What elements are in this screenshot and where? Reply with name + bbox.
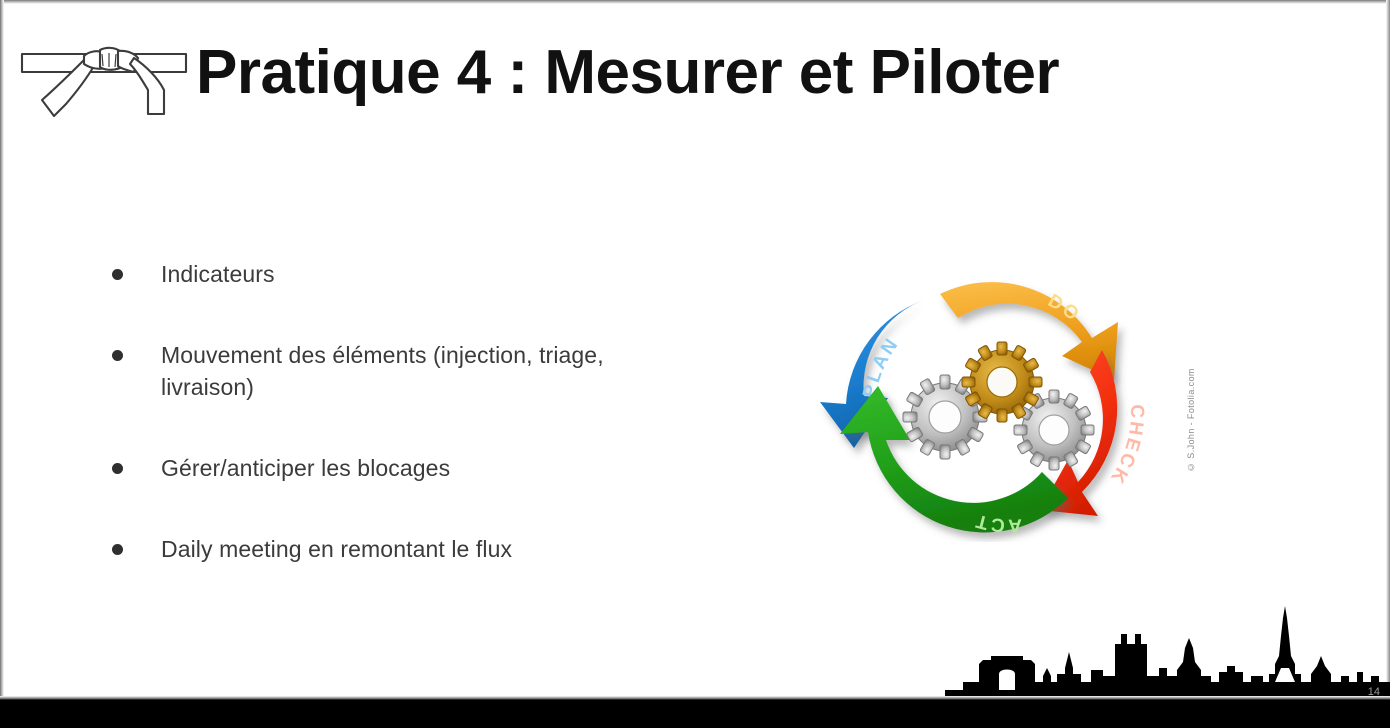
bullet-text: Daily meeting en remontant le flux bbox=[161, 533, 692, 566]
karate-belt-logo bbox=[8, 24, 198, 122]
list-item: Gérer/anticiper les blocages bbox=[112, 452, 692, 485]
bullet-text: Gérer/anticiper les blocages bbox=[161, 452, 692, 485]
bullet-text: Indicateurs bbox=[161, 258, 692, 291]
image-credit: © S.John - Fotolia.com bbox=[1186, 322, 1204, 472]
slide-root: Pratique 4 : Mesurer et Piloter Indicate… bbox=[0, 0, 1390, 728]
bottom-bar bbox=[0, 700, 1390, 728]
bullet-dot-icon bbox=[112, 544, 123, 555]
pdca-cycle-diagram: PLAN DO CHECK ACT bbox=[806, 252, 1196, 542]
list-item: Indicateurs bbox=[112, 258, 692, 291]
slide-top-edge bbox=[0, 0, 1390, 4]
page-number: 14 bbox=[1368, 686, 1380, 698]
slide-left-edge bbox=[0, 0, 4, 705]
page-title: Pratique 4 : Mesurer et Piloter bbox=[196, 42, 1059, 104]
list-item: Mouvement des éléments (injection, triag… bbox=[112, 339, 692, 404]
pdca-label-plan: PLAN bbox=[859, 333, 903, 399]
paris-skyline-silhouette bbox=[945, 590, 1390, 700]
bullet-dot-icon bbox=[112, 463, 123, 474]
bullet-text: Mouvement des éléments (injection, triag… bbox=[161, 339, 692, 404]
list-item: Daily meeting en remontant le flux bbox=[112, 533, 692, 566]
bullet-dot-icon bbox=[112, 350, 123, 361]
bullet-list: Indicateurs Mouvement des éléments (inje… bbox=[112, 258, 692, 565]
bullet-dot-icon bbox=[112, 269, 123, 280]
